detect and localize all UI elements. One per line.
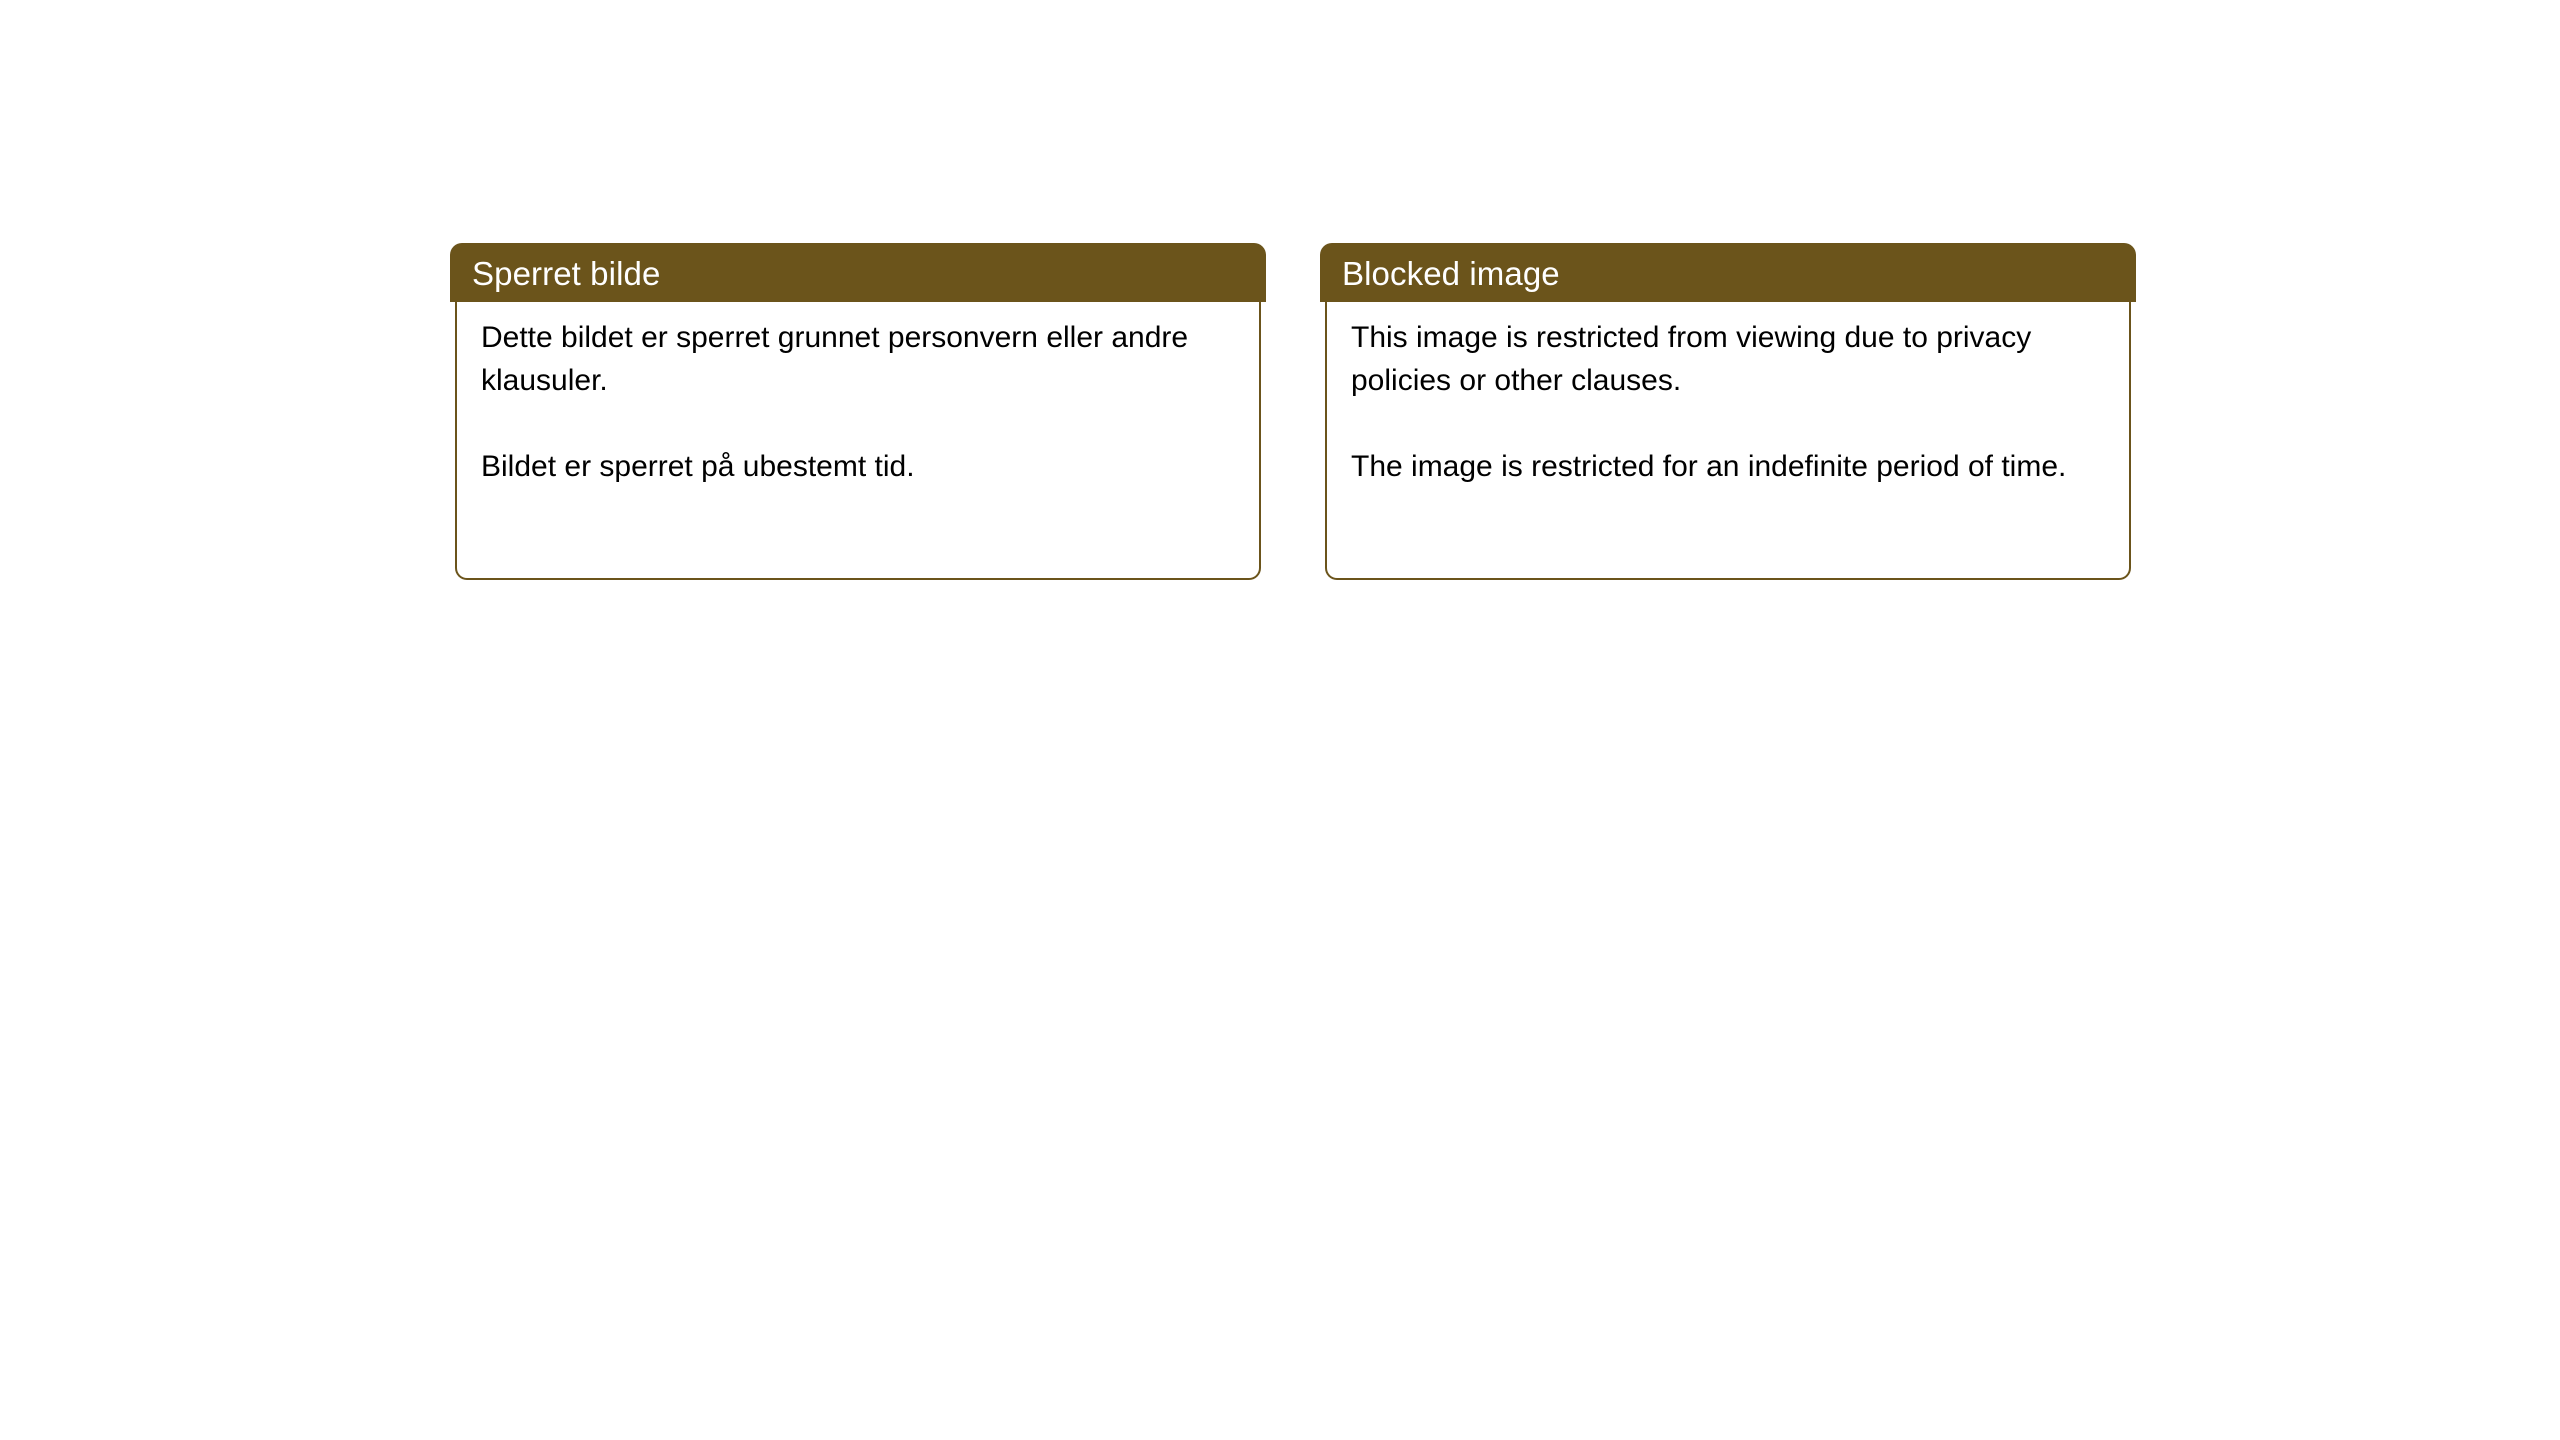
card-paragraph-secondary-norwegian: Bildet er sperret på ubestemt tid. — [481, 445, 1235, 488]
paragraph-spacer — [481, 402, 1235, 445]
card-paragraph-primary-english: This image is restricted from viewing du… — [1351, 316, 2105, 402]
card-body-english: This image is restricted from viewing du… — [1325, 302, 2131, 580]
paragraph-spacer — [1351, 402, 2105, 445]
card-body-norwegian: Dette bildet er sperret grunnet personve… — [455, 302, 1261, 580]
card-title-norwegian: Sperret bilde — [472, 256, 660, 292]
card-header-english: Blocked image — [1320, 243, 2136, 302]
card-title-english: Blocked image — [1342, 256, 1560, 292]
card-header-norwegian: Sperret bilde — [450, 243, 1266, 302]
blocked-image-card-english: Blocked image This image is restricted f… — [1320, 243, 2136, 580]
blocked-image-notice-area: Sperret bilde Dette bildet er sperret gr… — [0, 0, 2560, 1440]
card-paragraph-primary-norwegian: Dette bildet er sperret grunnet personve… — [481, 316, 1235, 402]
card-paragraph-secondary-english: The image is restricted for an indefinit… — [1351, 445, 2105, 488]
blocked-image-card-norwegian: Sperret bilde Dette bildet er sperret gr… — [450, 243, 1266, 580]
